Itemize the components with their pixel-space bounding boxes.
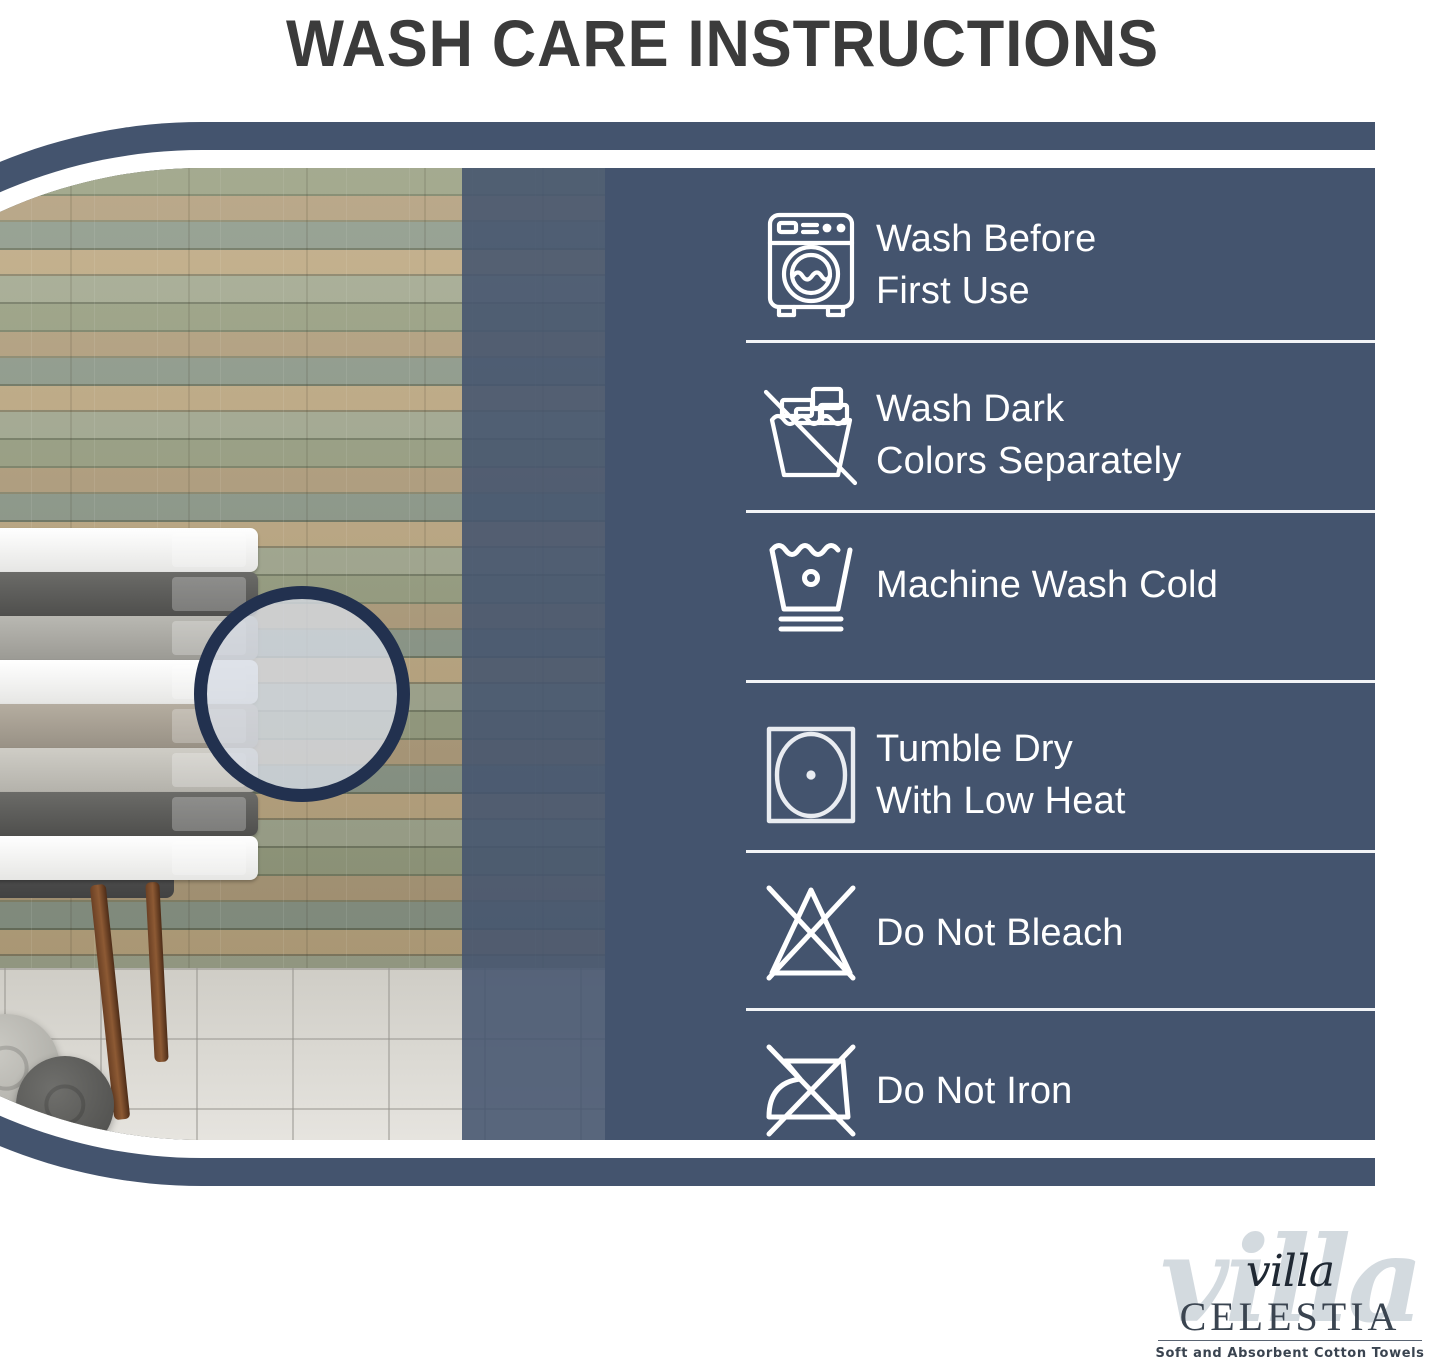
- instruction-row-do-not-bleach: Do Not Bleach: [746, 868, 1375, 998]
- accent-circle: [194, 586, 410, 802]
- washing-machine-icon: [746, 205, 876, 325]
- instruction-label: Wash Dark Colors Separately: [876, 383, 1181, 488]
- do-not-bleach-icon: [746, 873, 876, 993]
- card-inner-panel: Wash Before First Use Wash Dark: [0, 168, 1375, 1140]
- row-divider: [746, 340, 1375, 343]
- instruction-row-do-not-iron: Do Not Iron: [746, 1026, 1375, 1140]
- row-divider: [746, 680, 1375, 683]
- instruction-row-wash-dark-colors-separately: Wash Dark Colors Separately: [746, 370, 1375, 500]
- tumble-dry-low-heat-icon: [746, 715, 876, 835]
- instruction-label: Tumble Dry With Low Heat: [876, 723, 1126, 828]
- folded-towel: [0, 792, 258, 836]
- folded-towel: [0, 572, 258, 616]
- no-mixed-laundry-basket-icon: [746, 375, 876, 495]
- logo-script: villa: [1140, 1250, 1440, 1294]
- instruction-label: Do Not Iron: [876, 1065, 1073, 1117]
- instruction-label: Machine Wash Cold: [876, 559, 1218, 611]
- instruction-label: Wash Before First Use: [876, 213, 1096, 318]
- do-not-iron-icon: [746, 1031, 876, 1140]
- row-divider: [746, 850, 1375, 853]
- instruction-row-wash-before-first-use: Wash Before First Use: [746, 200, 1375, 330]
- instruction-row-tumble-dry-low-heat: Tumble Dry With Low Heat: [746, 710, 1375, 840]
- instruction-list: Wash Before First Use Wash Dark: [746, 168, 1375, 1140]
- instruction-row-machine-wash-cold: Machine Wash Cold: [746, 520, 1375, 650]
- photo-blue-veil: [462, 168, 605, 1140]
- row-divider: [746, 1008, 1375, 1011]
- folded-towel: [0, 528, 258, 572]
- brand-logo: villa villa CELESTIA Soft and Absorbent …: [1140, 1228, 1440, 1363]
- wash-care-card: Wash Before First Use Wash Dark: [0, 122, 1375, 1186]
- logo-tagline: Soft and Absorbent Cotton Towels: [1140, 1346, 1440, 1361]
- machine-wash-cold-icon: [746, 525, 876, 645]
- logo-name: CELESTIA: [1158, 1296, 1422, 1341]
- folded-towel: [0, 836, 258, 880]
- instruction-label: Do Not Bleach: [876, 907, 1124, 959]
- page-title: WASH CARE INSTRUCTIONS: [51, 0, 1395, 86]
- row-divider: [746, 510, 1375, 513]
